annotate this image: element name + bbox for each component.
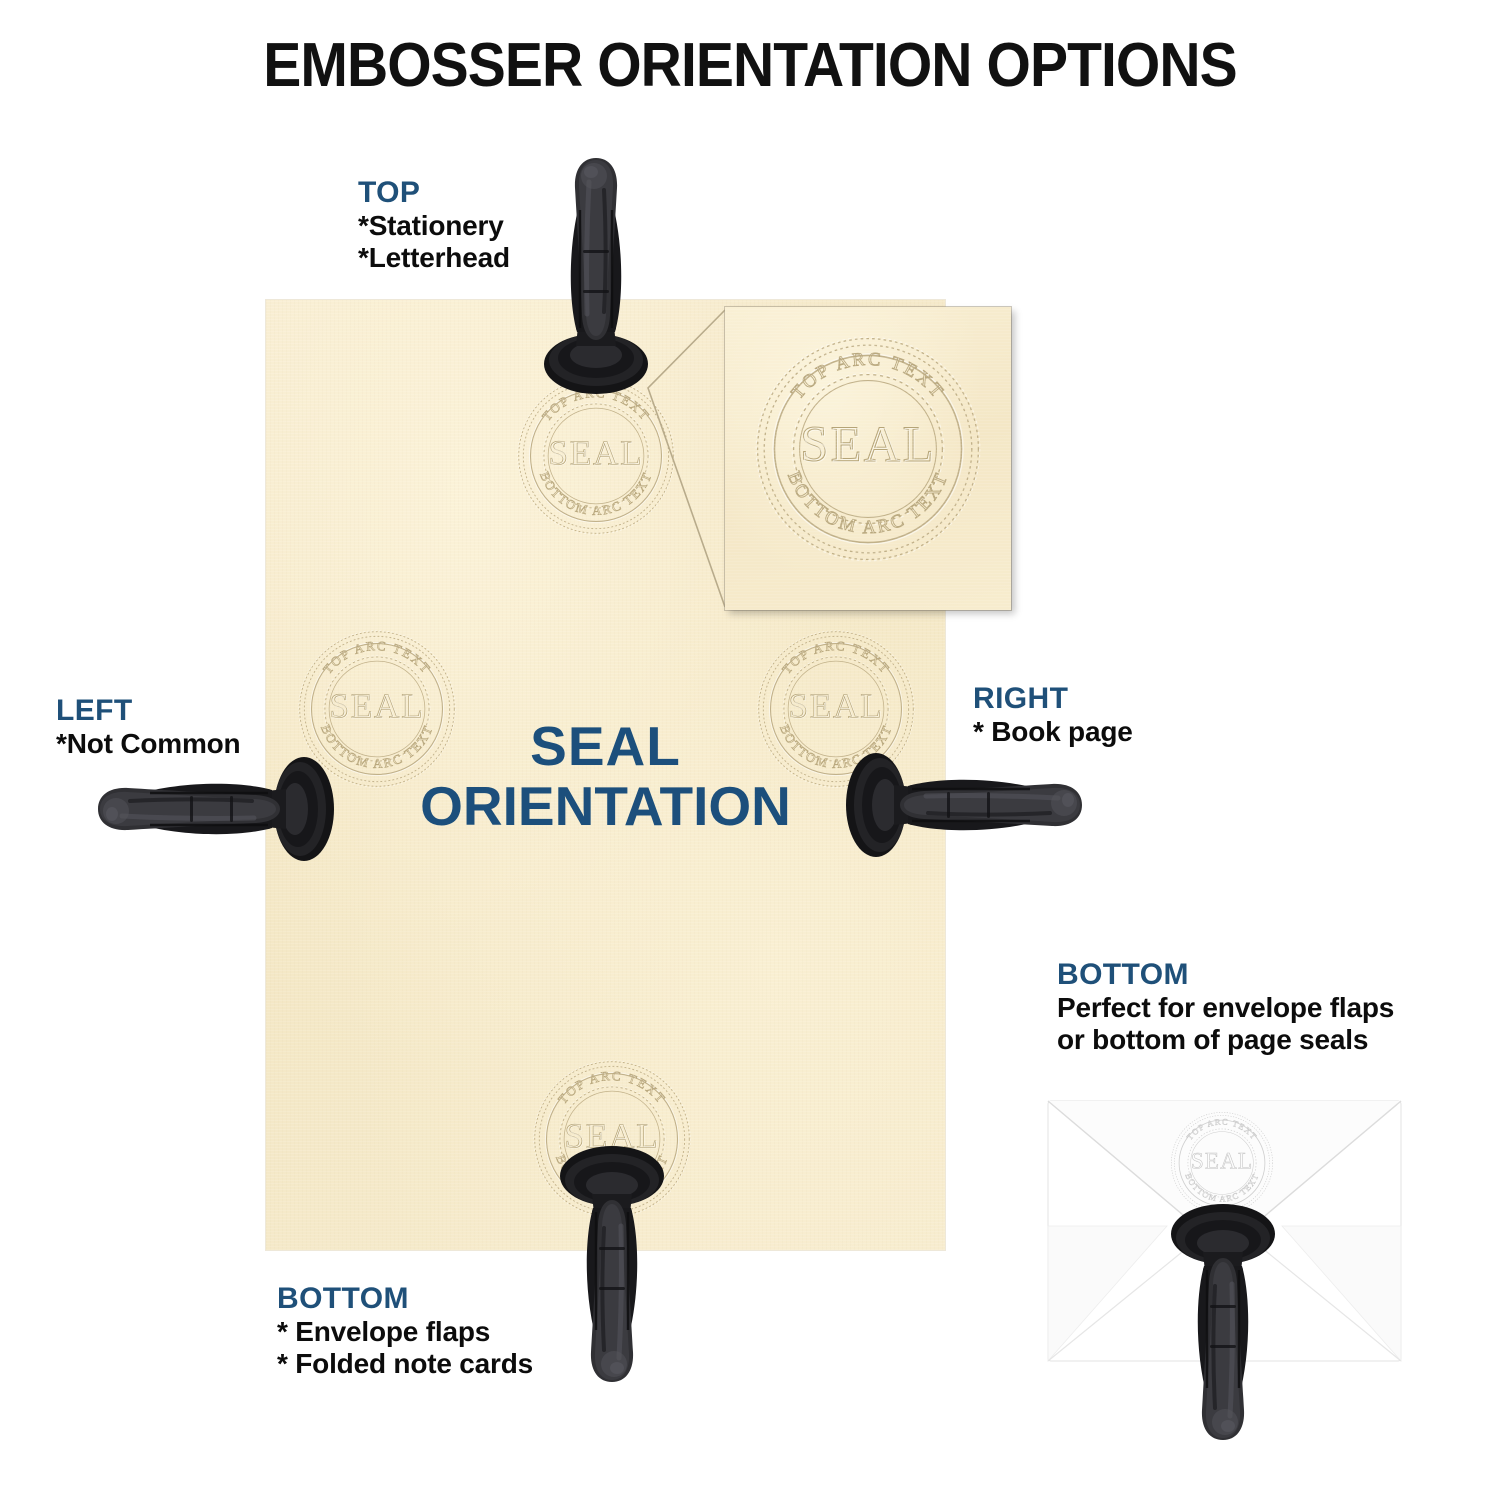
label-left-heading: LEFT [56,694,240,728]
envelope [1047,1100,1402,1362]
label-top: TOP *Stationery *Letterhead [358,176,510,275]
label-bottom-page-line-1: * Envelope flaps [277,1316,533,1349]
magnifier-callout-box [725,307,1011,610]
label-left-line-1: *Not Common [56,728,240,761]
label-bottom-envelope: BOTTOM Perfect for envelope flaps or bot… [1057,958,1394,1057]
label-top-line-1: *Stationery [358,210,510,243]
label-right-heading: RIGHT [973,682,1133,716]
page-title: EMBOSSER ORIENTATION OPTIONS [60,30,1440,101]
label-bottom-envelope-line-1: Perfect for envelope flaps [1057,992,1394,1025]
label-top-line-2: *Letterhead [358,242,510,275]
diagram-canvas: EMBOSSER ORIENTATION OPTIONS [0,0,1500,1500]
label-bottom-page-heading: BOTTOM [277,1282,533,1316]
label-bottom-page: BOTTOM * Envelope flaps * Folded note ca… [277,1282,533,1381]
label-left: LEFT *Not Common [56,694,240,760]
label-top-heading: TOP [358,176,510,210]
label-bottom-envelope-heading: BOTTOM [1057,958,1394,992]
label-right-line-1: * Book page [973,716,1133,749]
label-right: RIGHT * Book page [973,682,1133,748]
label-bottom-envelope-line-2: or bottom of page seals [1057,1024,1394,1057]
seal-impression-magnified [748,329,988,569]
label-bottom-page-line-2: * Folded note cards [277,1348,533,1381]
